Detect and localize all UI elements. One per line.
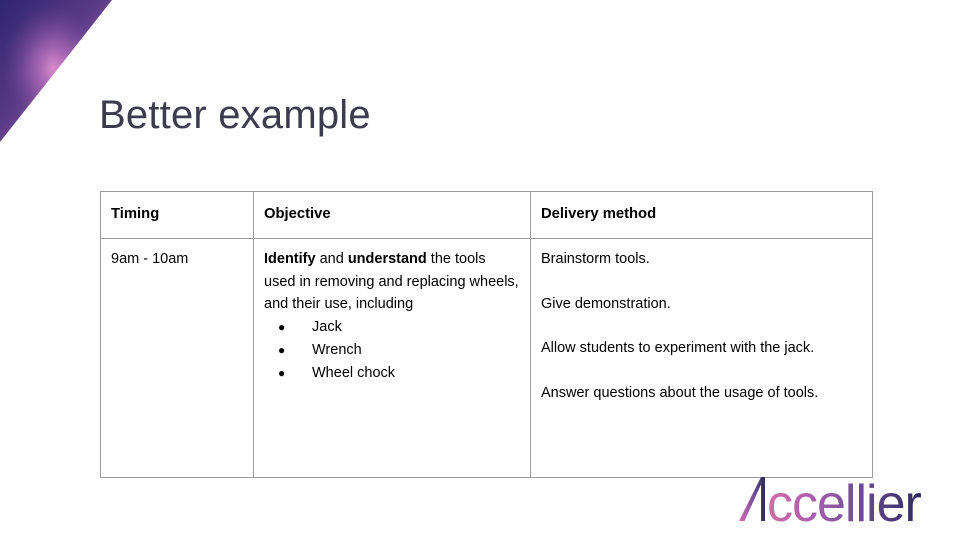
slide-canvas: Better example Timing Objective Delivery… bbox=[0, 0, 960, 540]
list-item-label: Wheel chock bbox=[312, 365, 395, 381]
bullet-icon: ● bbox=[278, 316, 285, 339]
column-header-delivery: Delivery method bbox=[531, 192, 873, 239]
list-item: ●Wrench bbox=[264, 339, 520, 362]
table-row: 9am - 10am Identify and understand the t… bbox=[101, 239, 873, 478]
list-item: ●Wheel chock bbox=[264, 362, 520, 385]
lesson-plan-table: Timing Objective Delivery method 9am - 1… bbox=[100, 191, 873, 478]
list-item: ●Jack bbox=[264, 316, 520, 339]
cell-delivery: Brainstorm tools. Give demonstration. Al… bbox=[531, 239, 873, 478]
accellier-logo: ccellier bbox=[735, 470, 950, 526]
page-title: Better example bbox=[99, 92, 371, 138]
delivery-paragraph: Answer questions about the usage of tool… bbox=[541, 382, 862, 405]
objective-text-and: and bbox=[316, 251, 348, 267]
column-header-timing: Timing bbox=[101, 192, 254, 239]
table-header-row: Timing Objective Delivery method bbox=[101, 192, 873, 239]
delivery-paragraph: Allow students to experiment with the ja… bbox=[541, 337, 862, 360]
bullet-icon: ● bbox=[278, 339, 285, 362]
cell-objective: Identify and understand the tools used i… bbox=[254, 239, 531, 478]
list-item-label: Jack bbox=[312, 319, 342, 335]
delivery-paragraph: Give demonstration. bbox=[541, 293, 862, 316]
logo-wordmark: ccellier bbox=[767, 475, 921, 526]
corner-gradient-triangle-icon bbox=[0, 0, 112, 142]
delivery-paragraph: Brainstorm tools. bbox=[541, 248, 862, 271]
list-item-label: Wrench bbox=[312, 342, 362, 358]
column-header-objective: Objective bbox=[254, 192, 531, 239]
objective-bold-understand: understand bbox=[348, 251, 427, 267]
objective-bullet-list: ●Jack ●Wrench ●Wheel chock bbox=[264, 316, 520, 385]
objective-bold-identify: Identify bbox=[264, 251, 316, 267]
objective-paragraph: Identify and understand the tools used i… bbox=[264, 248, 520, 316]
cell-timing: 9am - 10am bbox=[101, 239, 254, 478]
bullet-icon: ● bbox=[278, 362, 285, 385]
